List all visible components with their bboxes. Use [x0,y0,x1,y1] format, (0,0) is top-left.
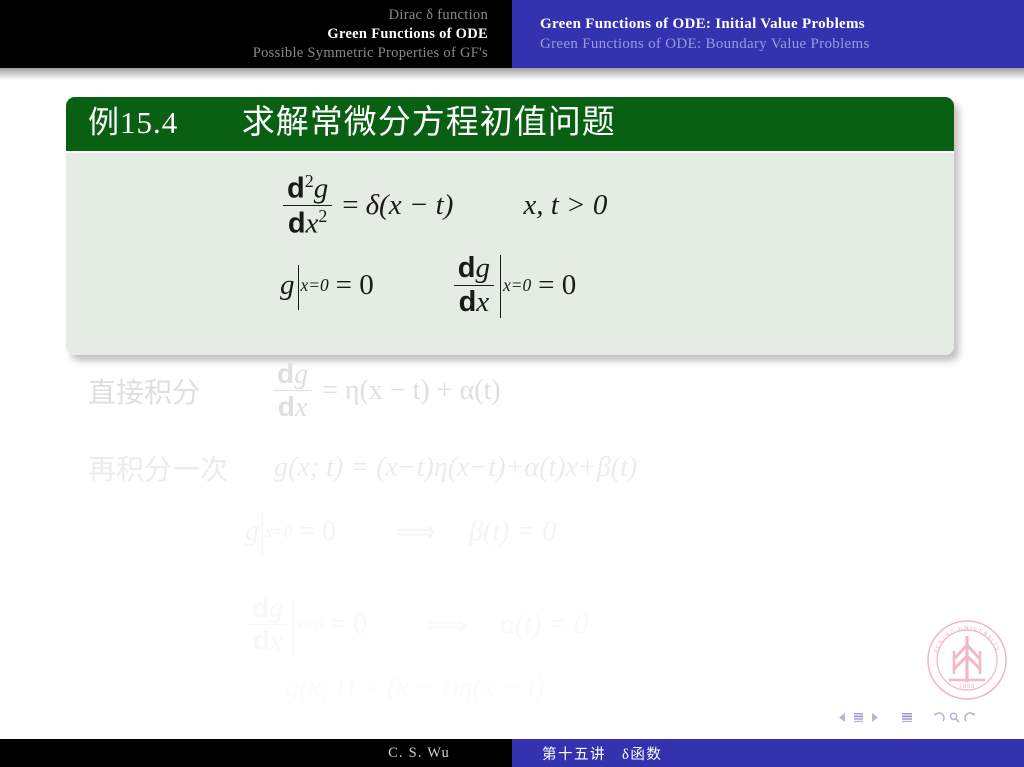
footer-lecture-title: 第十五讲 δ函数 [512,743,662,764]
derivation-equation-2: g(x; t) = (x−t)η(x−t)+α(t)x+β(t) [274,452,637,484]
beamer-navigation-bar[interactable] [836,711,977,724]
fraction-numerator: dg [273,358,312,391]
footer-lecture-section: 第十五讲 δ函数 [512,739,1024,767]
function-symbol-g: g [245,516,259,548]
nav-next-frame-icon[interactable] [868,711,881,724]
derivation-equation-4: = 0 [330,609,367,641]
header-item-boundary-value-problems[interactable]: Green Functions of ODE: Boundary Value P… [540,34,870,54]
derivation-label-integrate-again: 再积分一次 [88,448,228,488]
header-item-possible-symmetric-properties[interactable]: Possible Symmetric Properties of GF's [253,44,488,63]
function-symbol-g: g [280,269,295,302]
derivative-fraction: dg dx [248,592,287,658]
svg-text:1898: 1898 [959,683,976,690]
equals-sign: = [342,189,358,222]
evaluation-subscript: x=0 [296,615,323,635]
example-block-title: 例15.4 求解常微分方程初值问题 [66,97,954,153]
fraction-denominator: dx2 [284,206,332,240]
derivation-equation-3: = 0 [299,516,336,548]
evaluation-bar [298,265,299,310]
evaluation-bar [293,596,294,656]
example-block-body: d2g dx2 = δ(x − t) x, t > 0 g x=0 = 0 dg… [66,153,954,355]
domain-condition: x, t > 0 [523,189,607,222]
header-left-nav-section: Dirac δ function Green Functions of ODE … [0,0,512,68]
fraction-denominator: dx [455,286,494,318]
derivation-step-5: g(x; t) = (x − t)η(x − t) [0,672,1024,704]
derivation-step-4: dg dx x=0 = 0 ⟹ α(t) = 0 [0,592,1024,658]
example-number: 例15.4 [88,105,178,140]
fraction-denominator: dx [274,391,312,423]
derivation-result-3: β(t) = 0 [469,516,556,548]
implies-arrow-icon: ⟹ [427,608,467,642]
derivation-label-direct-integration: 直接积分 [88,371,200,411]
fraction-numerator: dg [454,252,494,285]
nav-group-history[interactable] [932,711,977,724]
example-block-wrapper: 例15.4 求解常微分方程初值问题 d2g dx2 = δ(x − t) x, … [66,97,954,355]
nav-prev-frame-icon[interactable] [836,711,849,724]
evaluation-subscript: x=0 [265,522,292,542]
peking-university-logo: PEKING UNIVERSITY 1898 [925,618,1009,702]
slide-header-bar: Dirac δ function Green Functions of ODE … [0,0,1024,68]
derivation-result-4: α(t) = 0 [500,609,588,641]
footer-author-section: C. S. Wu [0,739,512,767]
header-item-initial-value-problems[interactable]: Green Functions of ODE: Initial Value Pr… [540,14,870,34]
footer-author: C. S. Wu [388,745,512,762]
equation-initial-conditions: g x=0 = 0 dg dx x=0 = 0 [66,242,954,320]
evaluation-bar [500,255,501,317]
nav-section-icon[interactable] [900,711,913,724]
peking-university-seal-icon: PEKING UNIVERSITY 1898 [925,618,1009,702]
derivation-step-1: 直接积分 dg dx = η(x − t) + α(t) [0,358,1024,424]
derivative-fraction: dg dx [273,358,312,424]
slide-footer-bar: C. S. Wu 第十五讲 δ函数 [0,739,1024,767]
header-shadow [0,68,1024,80]
evaluation-subscript: x=0 [301,275,329,296]
equation-governing: d2g dx2 = δ(x − t) x, t > 0 [66,165,954,242]
nav-search-icon[interactable] [948,711,961,724]
fraction-numerator: dg [248,592,287,625]
header-item-dirac-delta-function[interactable]: Dirac δ function [253,6,488,25]
evaluation-subscript: x=0 [503,275,531,296]
equals-zero-2: = 0 [538,269,576,302]
nav-forward-icon[interactable] [964,711,977,724]
nav-group-section[interactable] [900,711,913,724]
header-right-nav-section: Green Functions of ODE: Initial Value Pr… [512,0,1024,68]
fraction-numerator: d2g [283,171,332,206]
derivation-step-2: 再积分一次 g(x; t) = (x−t)η(x−t)+α(t)x+β(t) [0,448,1024,488]
derivation-equation-1: = η(x − t) + α(t) [322,375,501,407]
equals-zero-1: = 0 [336,269,374,302]
example-title-text: 求解常微分方程初值问题 [242,105,616,141]
implies-arrow-icon: ⟹ [396,515,436,549]
delta-function-term: δ(x − t) [366,189,454,222]
second-derivative-fraction: d2g dx2 [283,171,332,240]
fraction-denominator: dx [249,625,287,657]
header-item-green-functions-of-ode[interactable]: Green Functions of ODE [253,25,488,44]
derivation-step-3: g x=0 = 0 ⟹ β(t) = 0 [0,510,1024,553]
nav-frame-icon[interactable] [852,711,865,724]
derivation-equation-5: g(x; t) = (x − t)η(x − t) [285,672,544,704]
nav-back-icon[interactable] [932,711,945,724]
first-derivative-fraction: dg dx [454,252,494,318]
nav-group-frames[interactable] [836,711,881,724]
evaluation-bar [262,512,263,555]
example-block: 例15.4 求解常微分方程初值问题 d2g dx2 = δ(x − t) x, … [66,97,954,355]
